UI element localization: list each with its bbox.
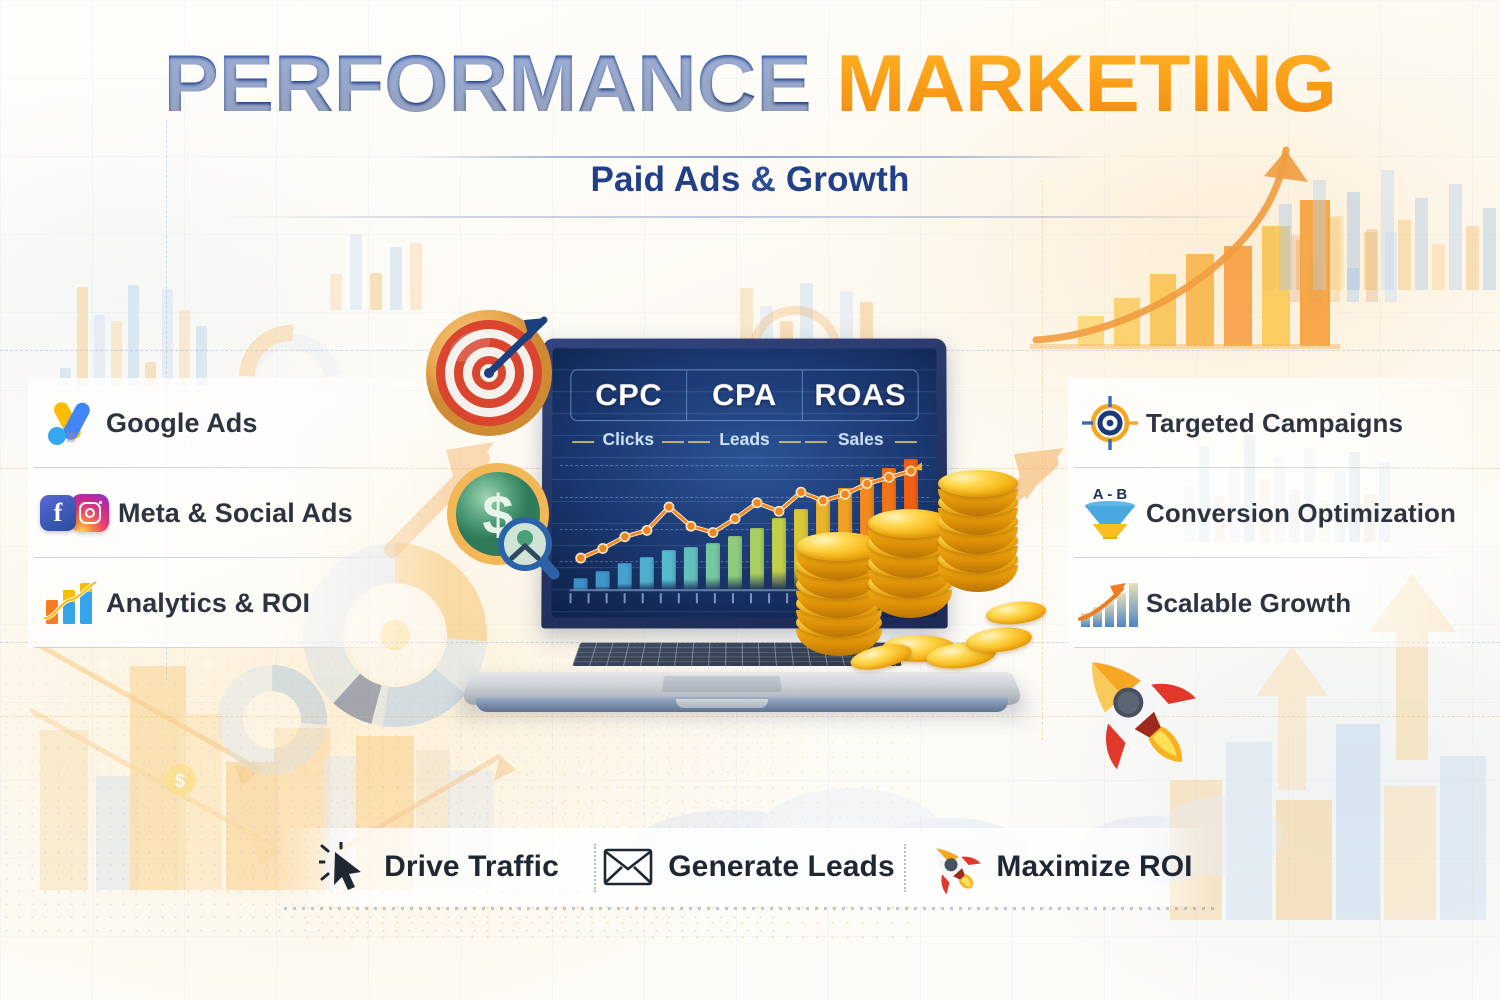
ab-badge-text: A - B xyxy=(1093,486,1128,503)
background-bar xyxy=(162,289,173,386)
trend-point xyxy=(906,466,915,475)
background-bar xyxy=(128,285,139,386)
trend-point xyxy=(620,532,629,541)
rocket-icon xyxy=(925,839,981,895)
title-divider-2 xyxy=(220,216,1280,218)
feature-label: Conversion Optimization xyxy=(1146,498,1456,529)
feature-item-google-ads[interactable]: Google Ads xyxy=(28,378,448,468)
trend-point xyxy=(774,507,783,516)
trend-point xyxy=(598,544,607,553)
trend-point xyxy=(576,553,585,562)
instagram-icon xyxy=(71,494,109,532)
facebook-icon: f xyxy=(40,495,76,531)
kpi-sublabel-sales: Sales xyxy=(803,429,919,453)
page-subtitle: Paid Ads & Growth xyxy=(0,160,1500,200)
dollar-magnifier-icon: $ xyxy=(442,458,564,580)
background-bar xyxy=(410,243,422,310)
background-bar xyxy=(370,273,382,310)
background-bar xyxy=(196,326,207,386)
title-block: PERFORMANCEMARKETING xyxy=(0,44,1500,125)
gold-coins-illustration xyxy=(790,480,1040,670)
kpi-metric-cpa[interactable]: CPA xyxy=(686,370,802,420)
trend-point xyxy=(752,498,761,507)
gold-coin xyxy=(938,470,1018,497)
kpi-sublabel-clicks: Clicks xyxy=(570,429,686,453)
kpi-sublabel-row: Clicks Leads Sales xyxy=(570,429,919,453)
subtitle-ampersand: & xyxy=(750,160,775,199)
title-divider-1 xyxy=(400,156,1100,158)
subtitle-part-b: Growth xyxy=(786,160,910,199)
rocket-icon xyxy=(1060,640,1210,780)
bottom-cta-bar: Drive Traffic Generate Leads xyxy=(284,828,1214,906)
kpi-metric-roas[interactable]: ROAS xyxy=(802,370,918,420)
feature-label: Analytics & ROI xyxy=(106,588,310,619)
growth-bars-arrow-icon xyxy=(1074,575,1146,631)
gold-coin-scattered xyxy=(965,625,1033,656)
cta-drive-traffic[interactable]: Drive Traffic xyxy=(284,828,594,906)
crosshair-target-icon xyxy=(1074,395,1146,451)
feature-item-targeted-campaigns[interactable]: Targeted Campaigns xyxy=(1068,378,1488,468)
cta-label: Generate Leads xyxy=(668,850,895,884)
cta-generate-leads[interactable]: Generate Leads xyxy=(594,828,904,906)
envelope-icon xyxy=(603,847,653,887)
click-cursor-icon xyxy=(319,842,369,892)
subtitle-part-a: Paid Ads xyxy=(590,160,740,199)
laptop-trackpad xyxy=(662,676,782,692)
magnifying-glass-icon xyxy=(501,520,554,574)
trend-point xyxy=(642,526,651,535)
ab-test-funnel-icon: A - B xyxy=(1074,482,1146,544)
trend-point xyxy=(686,522,695,531)
feature-label: Scalable Growth xyxy=(1146,588,1351,619)
infographic-canvas: $ xyxy=(0,0,1500,1000)
kpi-sublabel-leads: Leads xyxy=(686,429,802,453)
background-bar xyxy=(179,310,190,386)
guide-line-v2 xyxy=(1042,180,1043,740)
trend-point xyxy=(708,528,717,537)
feature-item-scalable-growth[interactable]: Scalable Growth xyxy=(1068,558,1488,648)
page-title-accent: MARKETING xyxy=(836,39,1337,129)
page-title-primary: PERFORMANCE xyxy=(163,39,811,129)
background-bar xyxy=(350,234,362,310)
facebook-instagram-icon: f xyxy=(34,494,118,532)
cta-label: Drive Traffic xyxy=(384,850,559,884)
row-divider xyxy=(34,647,414,648)
feature-item-conversion-optimization[interactable]: A - B Conversion Optimization xyxy=(1068,468,1488,558)
google-ads-icon xyxy=(34,398,106,448)
left-feature-panel: Google Ads f Meta & Social Ads xyxy=(28,378,448,648)
target-dartboard-icon xyxy=(422,306,556,440)
bar-chart-growth-icon xyxy=(34,578,106,628)
laptop-notch xyxy=(676,699,768,708)
bottom-dotted-rule xyxy=(284,907,1214,910)
cta-label: Maximize ROI xyxy=(996,850,1192,884)
feature-label: Targeted Campaigns xyxy=(1146,408,1403,439)
trend-point xyxy=(664,502,673,511)
right-feature-panel: Targeted Campaigns A - B Conversion Opti… xyxy=(1068,378,1488,648)
feature-label: Meta & Social Ads xyxy=(118,498,353,529)
kpi-row: CPC CPA ROAS xyxy=(570,369,918,421)
gold-coin-scattered xyxy=(985,599,1047,627)
kpi-metric-cpc[interactable]: CPC xyxy=(571,370,686,420)
background-bar xyxy=(111,321,122,386)
feature-item-meta-social[interactable]: f Meta & Social Ads xyxy=(28,468,448,558)
feature-item-analytics-roi[interactable]: Analytics & ROI xyxy=(28,558,448,648)
background-bar xyxy=(390,247,402,310)
background-bar xyxy=(77,287,88,386)
feature-label: Google Ads xyxy=(106,408,258,439)
cta-maximize-roi[interactable]: Maximize ROI xyxy=(904,828,1214,906)
trend-point xyxy=(730,514,739,523)
